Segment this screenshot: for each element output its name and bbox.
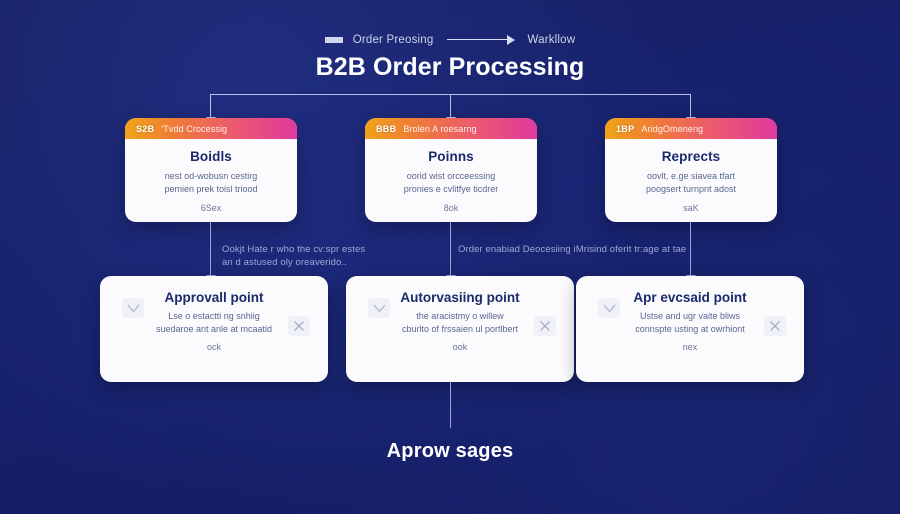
eyebrow-label-right: Warkllow (527, 34, 575, 46)
point-card-1-line-1: Lse o estactti ng snhiig (100, 310, 328, 323)
stage-card-1-band: S2B 'Tvdd Crocessig (125, 118, 297, 139)
point-card-2-metric: ook (346, 342, 574, 352)
stage-card-1-line-1: nest od-wobusn cestirg (137, 170, 285, 183)
connector-caption-left: Ookjt Hate r who the cv:spr estes an d a… (222, 243, 432, 269)
point-card-2-line-1: the aracistmy o willew (346, 310, 574, 323)
dash-icon (325, 37, 343, 43)
stage-card-1-metric: 6Sex (137, 203, 285, 213)
link-arrow-1 (210, 222, 211, 276)
point-card-1[interactable]: Approvall point Lse o estactti ng snhiig… (100, 276, 328, 382)
point-card-3-line-2: connspte usting at owrhiont (576, 323, 804, 336)
connector-caption-right: Order enabiad Deocesiing iMrisind oferit… (458, 243, 713, 256)
point-card-1-body: Approvall point Lse o estactti ng snhiig… (100, 276, 328, 382)
stage-card-3-metric: saK (617, 203, 765, 213)
stage-card-3-line-2: poogsert turnpnt adost (617, 183, 765, 196)
connector-arrow-1 (210, 94, 211, 118)
stage-card-2-band-label: Brolen A roesarng (403, 124, 476, 134)
point-card-3-metric: nex (576, 342, 804, 352)
stage-card-3-band-label: AridgOmeneng (641, 124, 703, 134)
stage-card-2-title: Poinns (377, 149, 525, 164)
stage-card-3-body: Reprects oovlt, e.ge siavea tfart poogse… (605, 139, 777, 213)
stage-card-1-line-2: pemien prek toisl triood (137, 183, 285, 196)
connector-arrow-3 (690, 94, 691, 118)
connector-arrow-2 (450, 94, 451, 118)
connector-caption-left-line-2: an d astused oly oreaverido.. (222, 256, 432, 269)
arrow-right-icon (443, 35, 517, 45)
point-card-2-line-2: cburlto of frssaien ul portlbert (346, 323, 574, 336)
link-arrow-2 (450, 222, 451, 276)
stage-card-1-body: Boidls nest od-wobusn cestirg pemien pre… (125, 139, 297, 213)
point-card-3-line-1: Ustse and ugr vaite bliws (576, 310, 804, 323)
stage-card-2-band: BBB Brolen A roesarng (365, 118, 537, 139)
stage-card-3[interactable]: 1BP AridgOmeneng Reprects oovlt, e.ge si… (605, 118, 777, 222)
point-card-2[interactable]: Autorvasiing point the aracistmy o wille… (346, 276, 574, 382)
page-title: B2B Order Processing (0, 53, 900, 82)
stage-card-2-line-1: oorid wist orcceessing (377, 170, 525, 183)
stage-card-3-line-1: oovlt, e.ge siavea tfart (617, 170, 765, 183)
stage-card-3-title: Reprects (617, 149, 765, 164)
stage-card-2-line-2: pronies e cvlitfye ticdrer (377, 183, 525, 196)
eyebrow-label-left: Order Preosing (353, 34, 434, 46)
stage-card-2[interactable]: BBB Brolen A roesarng Poinns oorid wist … (365, 118, 537, 222)
point-card-2-body: Autorvasiing point the aracistmy o wille… (346, 276, 574, 382)
point-card-1-line-2: suedaroe ant anle at mcaatid (100, 323, 328, 336)
header-eyebrow: Order Preosing Warkllow (0, 34, 900, 46)
connector-caption-left-line-1: Ookjt Hate r who the cv:spr estes (222, 243, 432, 256)
stage-card-1-badge: S2B (136, 124, 154, 134)
stage-card-2-metric: 8ok (377, 203, 525, 213)
connector-caption-right-line-1: Order enabiad Deocesiing iMrisind oferit… (458, 243, 713, 256)
stage-card-3-band: 1BP AridgOmeneng (605, 118, 777, 139)
point-card-1-metric: ock (100, 342, 328, 352)
footer-connector (450, 382, 451, 428)
stage-card-2-badge: BBB (376, 124, 396, 134)
stage-card-1[interactable]: S2B 'Tvdd Crocessig Boidls nest od-wobus… (125, 118, 297, 222)
footer-title: Aprow sages (0, 440, 900, 463)
stage-card-1-band-label: 'Tvdd Crocessig (161, 124, 227, 134)
stage-card-1-title: Boidls (137, 149, 285, 164)
point-card-3[interactable]: Apr evcsaid point Ustse and ugr vaite bl… (576, 276, 804, 382)
point-card-3-body: Apr evcsaid point Ustse and ugr vaite bl… (576, 276, 804, 382)
stage-card-2-body: Poinns oorid wist orcceessing pronies e … (365, 139, 537, 213)
workflow-diagram-canvas: Order Preosing Warkllow B2B Order Proces… (0, 0, 900, 514)
stage-card-3-badge: 1BP (616, 124, 634, 134)
